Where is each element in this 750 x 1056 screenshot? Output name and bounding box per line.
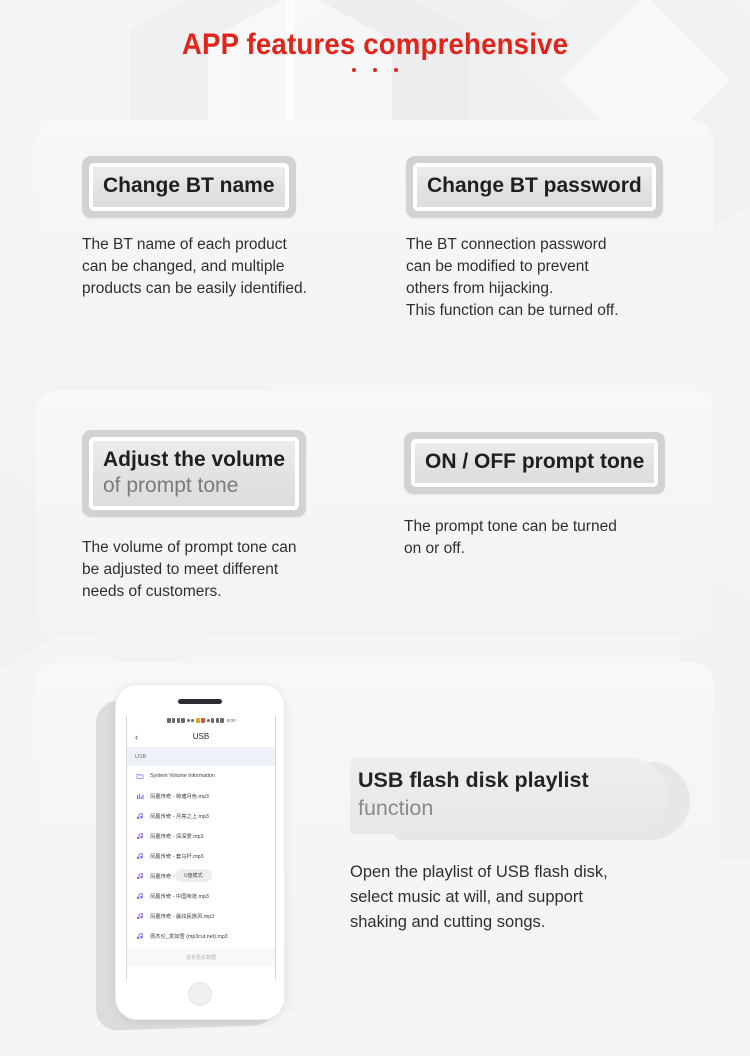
phone-body: 9:00 ‹ USB USB System Volume Information: [115, 684, 285, 1020]
chip-label-primary: Change BT name: [103, 173, 275, 199]
usb-feature-description: Open the playlist of USB flash disk, sel…: [350, 860, 700, 934]
feature-adjust-volume-prompt-tone: Adjust the volume of prompt tone The vol…: [82, 430, 306, 603]
feature-description: The volume of prompt tone can be adjuste…: [82, 537, 306, 603]
chevron-left-icon[interactable]: ‹: [135, 732, 138, 742]
list-item-label: System Volume Information: [150, 773, 215, 779]
music-note-icon: [136, 852, 144, 860]
music-note-icon: [136, 872, 144, 880]
pill-label-secondary: function: [358, 795, 652, 823]
usb-feature-pill[interactable]: USB flash disk playlist function: [350, 758, 668, 834]
status-dot-3: [207, 719, 210, 722]
phone-speaker: [178, 699, 222, 704]
bluetooth-icon: [211, 718, 214, 723]
music-note-icon: [136, 912, 144, 920]
chip-inner: ON / OFF prompt tone: [415, 443, 654, 483]
feature-change-bt-name: Change BT name The BT name of each produ…: [82, 156, 307, 300]
usb-mode-toast: U盘模式: [175, 869, 212, 882]
sim-icon: [167, 718, 171, 723]
music-note-icon: [136, 832, 144, 840]
chip-inner: Adjust the volume of prompt tone: [93, 441, 295, 506]
pill-label-primary: USB flash disk playlist: [358, 767, 652, 795]
status-bar-time: 9:00: [227, 718, 236, 723]
usb-feature-block: USB flash disk playlist function Open th…: [350, 758, 700, 934]
list-item[interactable]: 凤凰传奇 - 中国味道.mp3: [127, 886, 275, 906]
chip-inner: Change BT name: [93, 167, 285, 207]
feature-chip[interactable]: Change BT name: [82, 156, 296, 218]
list-item[interactable]: 周杰伦_发如雪 (mp3cut.net).mp3: [127, 926, 275, 946]
signal-icon-2: [177, 718, 180, 723]
signal-icon-1: [172, 718, 175, 723]
list-item-label: 周杰伦_发如雪 (mp3cut.net).mp3: [150, 932, 228, 940]
music-note-icon: [136, 932, 144, 940]
list-item-label: 凤凰传奇 - 深深爱.mp3: [150, 832, 204, 840]
phone-nav-title: USB: [127, 732, 275, 741]
chip-white-border: ON / OFF prompt tone: [411, 439, 658, 487]
feature-description: The prompt tone can be turned on or off.: [404, 516, 665, 560]
feature-change-bt-password: Change BT password The BT connection pas…: [406, 156, 663, 322]
list-item[interactable]: 凤凰传奇 - 套马杆.mp3: [127, 846, 275, 866]
dot-2: [373, 68, 377, 72]
feature-description: The BT connection password can be modifi…: [406, 234, 663, 322]
feature-chip[interactable]: Adjust the volume of prompt tone: [82, 430, 306, 517]
alarm-icon: [196, 718, 200, 723]
chip-label-primary: ON / OFF prompt tone: [425, 449, 644, 475]
list-item[interactable]: 凤凰传奇 - 最炫民族风.mp3: [127, 906, 275, 926]
chip-label-primary: Change BT password: [427, 173, 642, 199]
chip-inner: Change BT password: [417, 167, 652, 207]
phone-mockup: 9:00 ‹ USB USB System Volume Information: [96, 680, 311, 1040]
phone-nav-bar: ‹ USB: [127, 726, 275, 748]
chip-white-border: Change BT name: [89, 163, 289, 211]
status-dot-2: [191, 719, 194, 722]
page-title: APP features comprehensive: [30, 0, 720, 62]
list-footer-no-more-data: 没有更多数据: [127, 948, 275, 966]
chip-white-border: Change BT password: [413, 163, 656, 211]
list-item[interactable]: System Volume Information: [127, 766, 275, 786]
list-item-label: 凤凰传奇 - 中国味道.mp3: [150, 892, 209, 900]
list-item-label: 凤凰传奇 -: [150, 872, 174, 880]
wifi-icon: [181, 718, 185, 723]
chip-label-secondary: of prompt tone: [103, 473, 285, 499]
page-header: APP features comprehensive: [0, 0, 750, 118]
music-note-icon: [136, 812, 144, 820]
chip-white-border: Adjust the volume of prompt tone: [89, 437, 299, 510]
title-dots: [0, 68, 750, 72]
battery-icon: [220, 718, 224, 723]
dot-1: [352, 68, 356, 72]
list-item[interactable]: 凤凰传奇 - U盘模式: [127, 866, 275, 886]
list-item[interactable]: 凤凰传奇 - 荷塘月色.mp3: [127, 786, 275, 806]
list-item-label: 凤凰传奇 - 套马杆.mp3: [150, 852, 204, 860]
phone-status-bar: 9:00: [127, 715, 275, 726]
phone-home-button[interactable]: [188, 982, 212, 1006]
dot-3: [394, 68, 398, 72]
location-icon: [216, 718, 219, 723]
feature-on-off-prompt-tone: ON / OFF prompt tone The prompt tone can…: [404, 432, 665, 560]
folder-icon: [136, 772, 144, 780]
notification-icon: [201, 718, 205, 723]
equalizer-icon: [136, 792, 144, 800]
feature-chip[interactable]: ON / OFF prompt tone: [404, 432, 665, 494]
status-dot-1: [187, 719, 190, 722]
list-item-label: 凤凰传奇 - 荷塘月色.mp3: [150, 792, 209, 800]
list-item-label: 凤凰传奇 - 最炫民族风.mp3: [150, 912, 214, 920]
list-item-label: 凤凰传奇 - 月亮之上.mp3: [150, 812, 209, 820]
feature-chip[interactable]: Change BT password: [406, 156, 663, 218]
feature-description: The BT name of each product can be chang…: [82, 234, 307, 300]
list-item[interactable]: 凤凰传奇 - 月亮之上.mp3: [127, 806, 275, 826]
phone-breadcrumb[interactable]: USB: [127, 748, 275, 766]
list-item[interactable]: 凤凰传奇 - 深深爱.mp3: [127, 826, 275, 846]
music-note-icon: [136, 892, 144, 900]
phone-screen: 9:00 ‹ USB USB System Volume Information: [126, 715, 276, 980]
chip-label-primary: Adjust the volume: [103, 447, 285, 473]
